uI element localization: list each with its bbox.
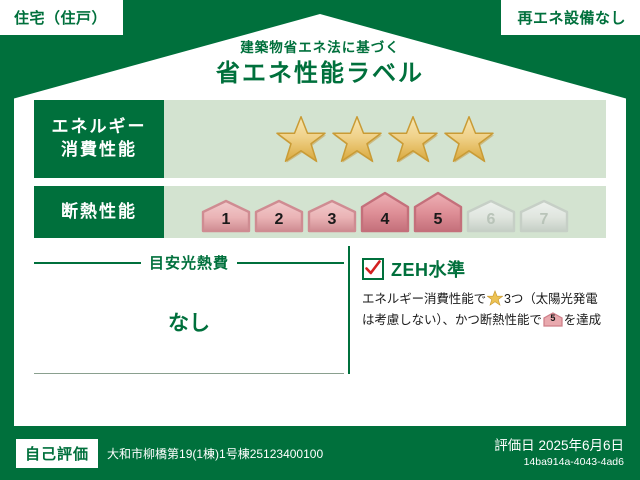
row-insulation-performance-label: 断熱性能 [34,186,164,238]
heading-rule-left [34,262,141,264]
footer-right: 評価日 2025年6月6日 14ba914a-4043-4ad6 [494,437,624,469]
star-icon-inline [487,290,503,306]
building-name: 大和市柳橋第19(1棟)1号棟25123400100 [107,445,323,462]
row-insulation-performance-body: 1234567 [164,186,606,238]
insulation-level-7: 7 [519,199,569,233]
zeh-section: ZEH水準 エネルギー消費性能で3つ（太陽光発電 は考慮しない）、かつ断熱性能で… [348,246,606,374]
badge-renewable-energy: 再エネ設備なし [501,0,640,35]
row-energy-label-line1: エネルギー [52,116,147,139]
row-energy-performance-body [164,100,606,178]
insulation-level-1: 1 [201,199,251,233]
insulation-level-6: 6 [466,199,516,233]
utility-cost-value: なし [34,307,344,337]
zeh-desc-part2: は考慮しない）、かつ断熱性能で [362,313,542,327]
star-icon [332,114,382,164]
energy-performance-label: 住宅（住戸） 再エネ設備なし 建築物省エネ法に基づく 省エネ性能ラベル エネルギ… [0,0,640,480]
utility-cost-heading-text: 目安光熱費 [141,252,237,273]
house-chevron-icon [360,191,410,233]
star-icon [444,114,494,164]
badge-renewable-energy-label: 再エネ設備なし [517,7,626,28]
house-chevron-icon [254,199,304,233]
insulation-badge-inline-num: 5 [543,312,563,327]
house-chevron-icon [466,199,516,233]
insulation-level-2: 2 [254,199,304,233]
house-chevron-icon [519,199,569,233]
lower-section: 目安光熱費 なし ZEH水準 エネルギー消費性能で3つ（太陽光発電 [34,246,606,374]
utility-cost-underline [34,373,344,374]
evaluation-date: 評価日 2025年6月6日 [494,437,624,455]
heading-rule-right [237,262,344,264]
zeh-checkbox[interactable] [362,258,384,280]
row-insulation-performance: 断熱性能 1234567 [34,186,606,238]
zeh-desc-part1: エネルギー消費性能で [362,292,486,306]
title-subtitle: 建築物省エネ法に基づく [0,40,640,56]
row-energy-performance: エネルギー 消費性能 [34,100,606,178]
utility-cost-section: 目安光熱費 なし [34,246,344,374]
insulation-level-scale: 1234567 [201,191,569,233]
evaluation-id: 14ba914a-4043-4ad6 [494,455,624,469]
star-icon [388,114,438,164]
house-chevron-icon [413,191,463,233]
star-rating [276,114,494,164]
zeh-desc-star-count: 3つ（太陽光発電 [504,292,598,306]
zeh-title: ZEH水準 [391,256,466,282]
zeh-heading: ZEH水準 [362,256,606,282]
zeh-description: エネルギー消費性能で3つ（太陽光発電 は考慮しない）、かつ断熱性能で5を達成 [362,289,606,332]
insulation-level-5: 5 [413,191,463,233]
row-energy-label-line2: 消費性能 [61,139,137,162]
star-icon [276,114,326,164]
badge-housing-type-label: 住宅（住戸） [14,7,107,28]
zeh-desc-part3: を達成 [564,313,601,327]
utility-cost-heading: 目安光熱費 [34,252,344,273]
self-evaluation-badge: 自己評価 [16,439,98,468]
insulation-level-3: 3 [307,199,357,233]
insulation-level-4: 4 [360,191,410,233]
check-icon [363,258,383,278]
label-content: エネルギー 消費性能 断熱性能 1234567 目安光熱費 [34,100,606,374]
house-chevron-icon [201,199,251,233]
footer: 自己評価 大和市柳橋第19(1棟)1号棟25123400100 評価日 2025… [0,426,640,480]
insulation-badge-inline: 5 [543,312,563,327]
row-insulation-label-text: 断熱性能 [61,201,137,224]
badge-housing-type: 住宅（住戸） [0,0,123,35]
row-energy-performance-label: エネルギー 消費性能 [34,100,164,178]
page-title: 省エネ性能ラベル [0,58,640,89]
title-block: 建築物省エネ法に基づく 省エネ性能ラベル [0,40,640,89]
house-chevron-icon [307,199,357,233]
footer-left: 自己評価 大和市柳橋第19(1棟)1号棟25123400100 [16,439,323,468]
